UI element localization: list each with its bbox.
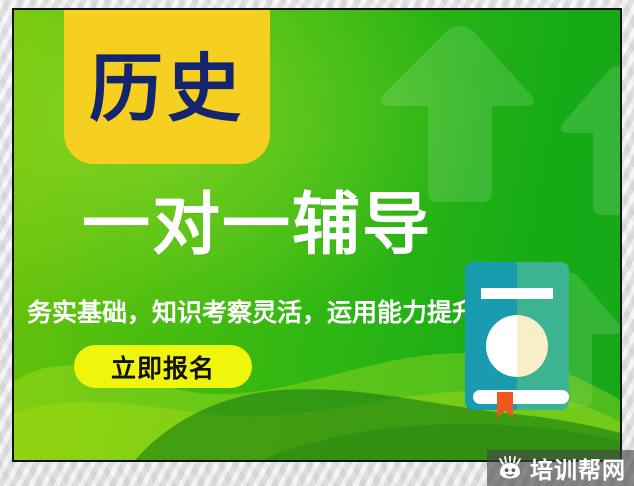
book-pages xyxy=(473,390,569,404)
book-title-band xyxy=(481,288,553,299)
watermark-label: 培训帮网 xyxy=(530,451,626,485)
subtitle: 务实基础，知识考察灵活，运用能力提升 xyxy=(22,293,482,329)
page-root: 历史 一对一辅导 务实基础，知识考察灵活，运用能力提升 立即报名 xyxy=(0,0,634,486)
subject-badge: 历史 xyxy=(64,8,270,164)
promo-banner: 历史 一对一辅导 务实基础，知识考察灵活，运用能力提升 立即报名 xyxy=(12,8,622,462)
book-bookmark xyxy=(497,392,513,418)
book-illustration xyxy=(457,254,577,418)
sun-face-icon xyxy=(497,456,523,480)
subject-badge-label: 历史 xyxy=(89,46,245,126)
enroll-now-label: 立即报名 xyxy=(111,349,215,385)
watermark: 培训帮网 xyxy=(487,450,634,486)
enroll-now-button[interactable]: 立即报名 xyxy=(74,345,252,388)
headline: 一对一辅导 xyxy=(32,190,482,262)
